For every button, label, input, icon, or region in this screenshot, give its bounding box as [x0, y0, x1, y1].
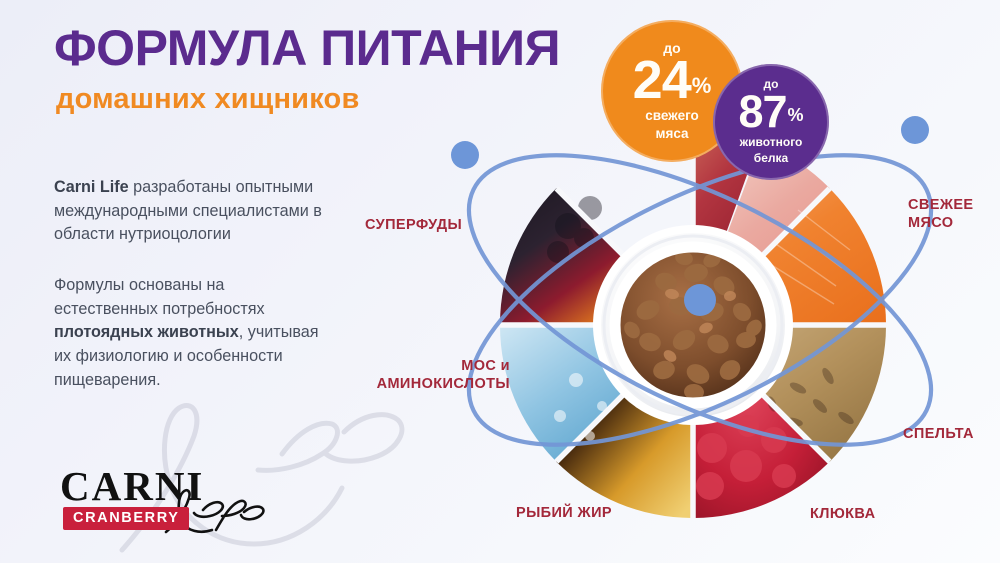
page-subtitle: домашних хищников	[56, 83, 359, 116]
brand-logo: CARNI CRANBERRY	[60, 466, 260, 538]
badge-value: 87	[738, 91, 786, 132]
badge-value-row: 87 %	[738, 91, 803, 132]
label-fresh-meat[interactable]: СВЕЖЕЕ МЯСО	[908, 196, 973, 232]
label-fish-oil-line1: РЫБИЙ ЖИР	[516, 504, 612, 522]
badge-caption-line1: животного	[740, 136, 803, 149]
infographic-slide: ФОРМУЛА ПИТАНИЯ домашних хищников Carni …	[0, 0, 1000, 563]
label-spelta[interactable]: СПЕЛЬТА	[903, 425, 974, 443]
label-fresh-meat-line1: СВЕЖЕЕ	[908, 196, 973, 214]
label-cranberry-line1: КЛЮКВА	[810, 505, 875, 523]
paragraph-2-pre: Формулы основаны на естественных потребн…	[54, 276, 265, 318]
label-fresh-meat-line2: МЯСО	[908, 214, 973, 232]
label-superfoods-line1: СУПЕРФУДЫ	[365, 216, 462, 234]
logo-cranberry-badge: CRANBERRY	[63, 507, 189, 530]
page-title: ФОРМУЛА ПИТАНИЯ	[54, 22, 560, 74]
paragraph-2-emphasis: плотоядных животных	[54, 323, 239, 341]
paragraph-2: Формулы основаны на естественных потребн…	[54, 274, 322, 392]
orbit-node-left[interactable]	[451, 141, 479, 169]
paragraph-1: Carni Life разработаны опытными междунар…	[54, 176, 322, 247]
label-mos[interactable]: МОС и АМИНОКИСЛОТЫ	[372, 357, 510, 393]
badge-unit: %	[692, 76, 712, 96]
badge-animal-protein-percent[interactable]: до 87 % животного белка	[713, 64, 829, 180]
brand-name: Carni Life	[54, 178, 129, 196]
badge-caption-line2: мяса	[655, 126, 688, 141]
label-mos-line2: АМИНОКИСЛОТЫ	[372, 375, 510, 393]
kibble-bowl	[593, 225, 793, 425]
badge-value: 24	[633, 56, 691, 106]
label-mos-line1: МОС и	[372, 357, 510, 375]
label-fish-oil[interactable]: РЫБИЙ ЖИР	[516, 504, 612, 522]
body-copy: Carni Life разработаны опытными междунар…	[54, 176, 322, 392]
badge-value-row: 24 %	[633, 56, 712, 106]
label-superfoods[interactable]: СУПЕРФУДЫ	[365, 216, 462, 234]
badge-caption-line2: белка	[754, 152, 788, 165]
ingredient-wheel	[498, 130, 888, 520]
orbit-node-right[interactable]	[901, 116, 929, 144]
badge-unit: %	[788, 107, 804, 124]
badge-caption-line1: свежего	[645, 108, 699, 123]
label-cranberry[interactable]: КЛЮКВА	[810, 505, 875, 523]
label-spelta-line1: СПЕЛЬТА	[903, 425, 974, 443]
